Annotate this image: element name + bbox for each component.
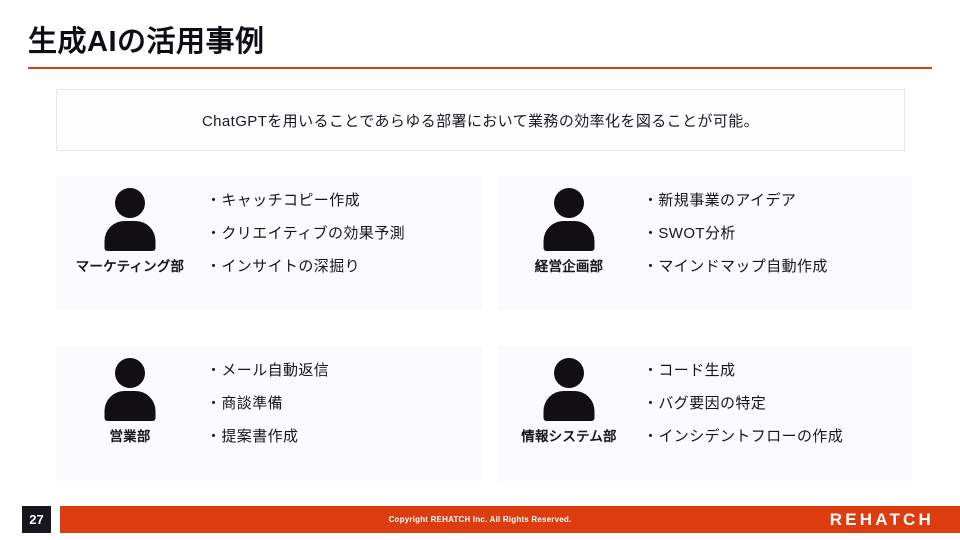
person-icon: [540, 358, 598, 420]
department-label: 営業部: [109, 425, 150, 445]
task-list-item: ・SWOT分析: [643, 226, 912, 241]
person-icon-head: [554, 188, 584, 218]
task-list: ・コード生成 ・バグ要因の特定 ・インシデントフローの作成: [641, 346, 912, 462]
task-list-item: ・インサイトの深掘り: [206, 259, 483, 274]
person-icon-body: [105, 221, 156, 251]
department-card[interactable]: マーケティング部 ・キャッチコピー作成 ・クリエイティブの効果予測 ・インサイト…: [56, 176, 483, 310]
task-list-item: ・クリエイティブの効果予測: [206, 226, 483, 241]
task-list-item: ・新規事業のアイデア: [643, 193, 912, 208]
person-icon-head: [115, 188, 145, 218]
department-card[interactable]: 営業部 ・メール自動返信 ・商談準備 ・提案書作成: [56, 346, 483, 481]
task-list-item: ・メール自動返信: [206, 363, 483, 378]
lead-statement-box: ChatGPTを用いることであらゆる部署において業務の効率化を図ることが可能。: [56, 89, 905, 151]
person-icon: [540, 188, 598, 250]
person-icon-body: [544, 221, 595, 251]
department-identity: 営業部: [56, 346, 204, 445]
task-list-item: ・提案書作成: [206, 429, 483, 444]
task-list-item: ・バグ要因の特定: [643, 396, 912, 411]
department-card[interactable]: 経営企画部 ・新規事業のアイデア ・SWOT分析 ・マインドマップ自動作成: [497, 176, 912, 310]
title-underline-rule: [28, 67, 932, 69]
slide-canvas: 生成AIの活用事例 ChatGPTを用いることであらゆる部署において業務の効率化…: [0, 0, 960, 540]
task-list: ・新規事業のアイデア ・SWOT分析 ・マインドマップ自動作成: [641, 176, 912, 274]
task-list-item: ・商談準備: [206, 396, 483, 411]
page-title: 生成AIの活用事例: [28, 27, 265, 59]
department-card-grid: マーケティング部 ・キャッチコピー作成 ・クリエイティブの効果予測 ・インサイト…: [56, 176, 912, 481]
task-list-item: ・キャッチコピー作成: [206, 193, 483, 208]
department-label: マーケティング部: [76, 255, 185, 275]
department-identity: マーケティング部: [56, 176, 204, 275]
person-icon-body: [105, 391, 156, 421]
task-list: ・メール自動返信 ・商談準備 ・提案書作成: [204, 346, 483, 462]
task-list: ・キャッチコピー作成 ・クリエイティブの効果予測 ・インサイトの深掘り: [204, 176, 483, 274]
lead-statement-text: ChatGPTを用いることであらゆる部署において業務の効率化を図ることが可能。: [202, 110, 759, 131]
brand-logo: REHATCH: [830, 506, 934, 533]
task-list-item: ・マインドマップ自動作成: [643, 259, 912, 274]
department-card[interactable]: 情報システム部 ・コード生成 ・バグ要因の特定 ・インシデントフローの作成: [497, 346, 912, 481]
department-label: 経営企画部: [535, 255, 604, 275]
person-icon: [101, 358, 159, 420]
person-icon: [101, 188, 159, 250]
department-identity: 情報システム部: [497, 346, 641, 445]
person-icon-body: [544, 391, 595, 421]
person-icon-head: [115, 358, 145, 388]
page-number-badge: 27: [22, 506, 51, 533]
task-list-item: ・インシデントフローの作成: [643, 429, 912, 444]
task-list-item: ・コード生成: [643, 363, 912, 378]
footer-bar: [60, 506, 960, 533]
person-icon-head: [554, 358, 584, 388]
department-label: 情報システム部: [521, 425, 617, 445]
department-identity: 経営企画部: [497, 176, 641, 275]
